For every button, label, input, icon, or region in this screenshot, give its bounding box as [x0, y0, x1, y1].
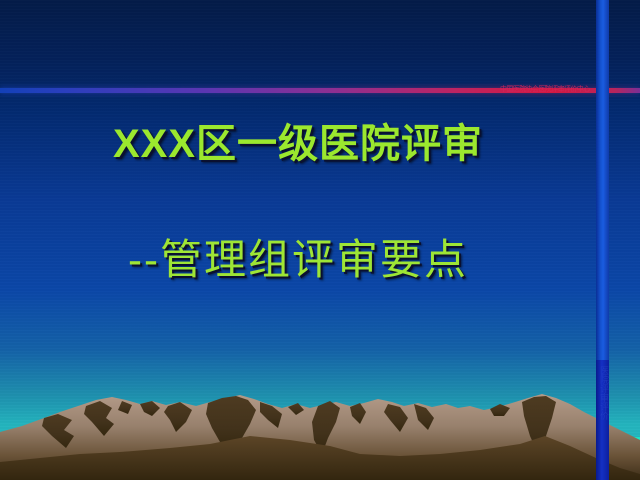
- presentation-slide: 中国医院协会医院评审评价中心 医院评审评价 XXX区一级医院评审 --管理组评审…: [0, 0, 640, 480]
- subtitle-block: --管理组评审要点: [0, 232, 596, 288]
- slide-title: XXX区一级医院评审: [113, 118, 483, 170]
- title-block: XXX区一级医院评审: [0, 118, 596, 170]
- slide-subtitle: --管理组评审要点: [128, 232, 468, 288]
- rule-watermark-text: 中国医院协会医院评审评价中心: [500, 84, 640, 95]
- mountain-silhouette-graphic: [0, 370, 640, 480]
- vertical-bar-watermark-text: 医院评审评价: [596, 366, 609, 476]
